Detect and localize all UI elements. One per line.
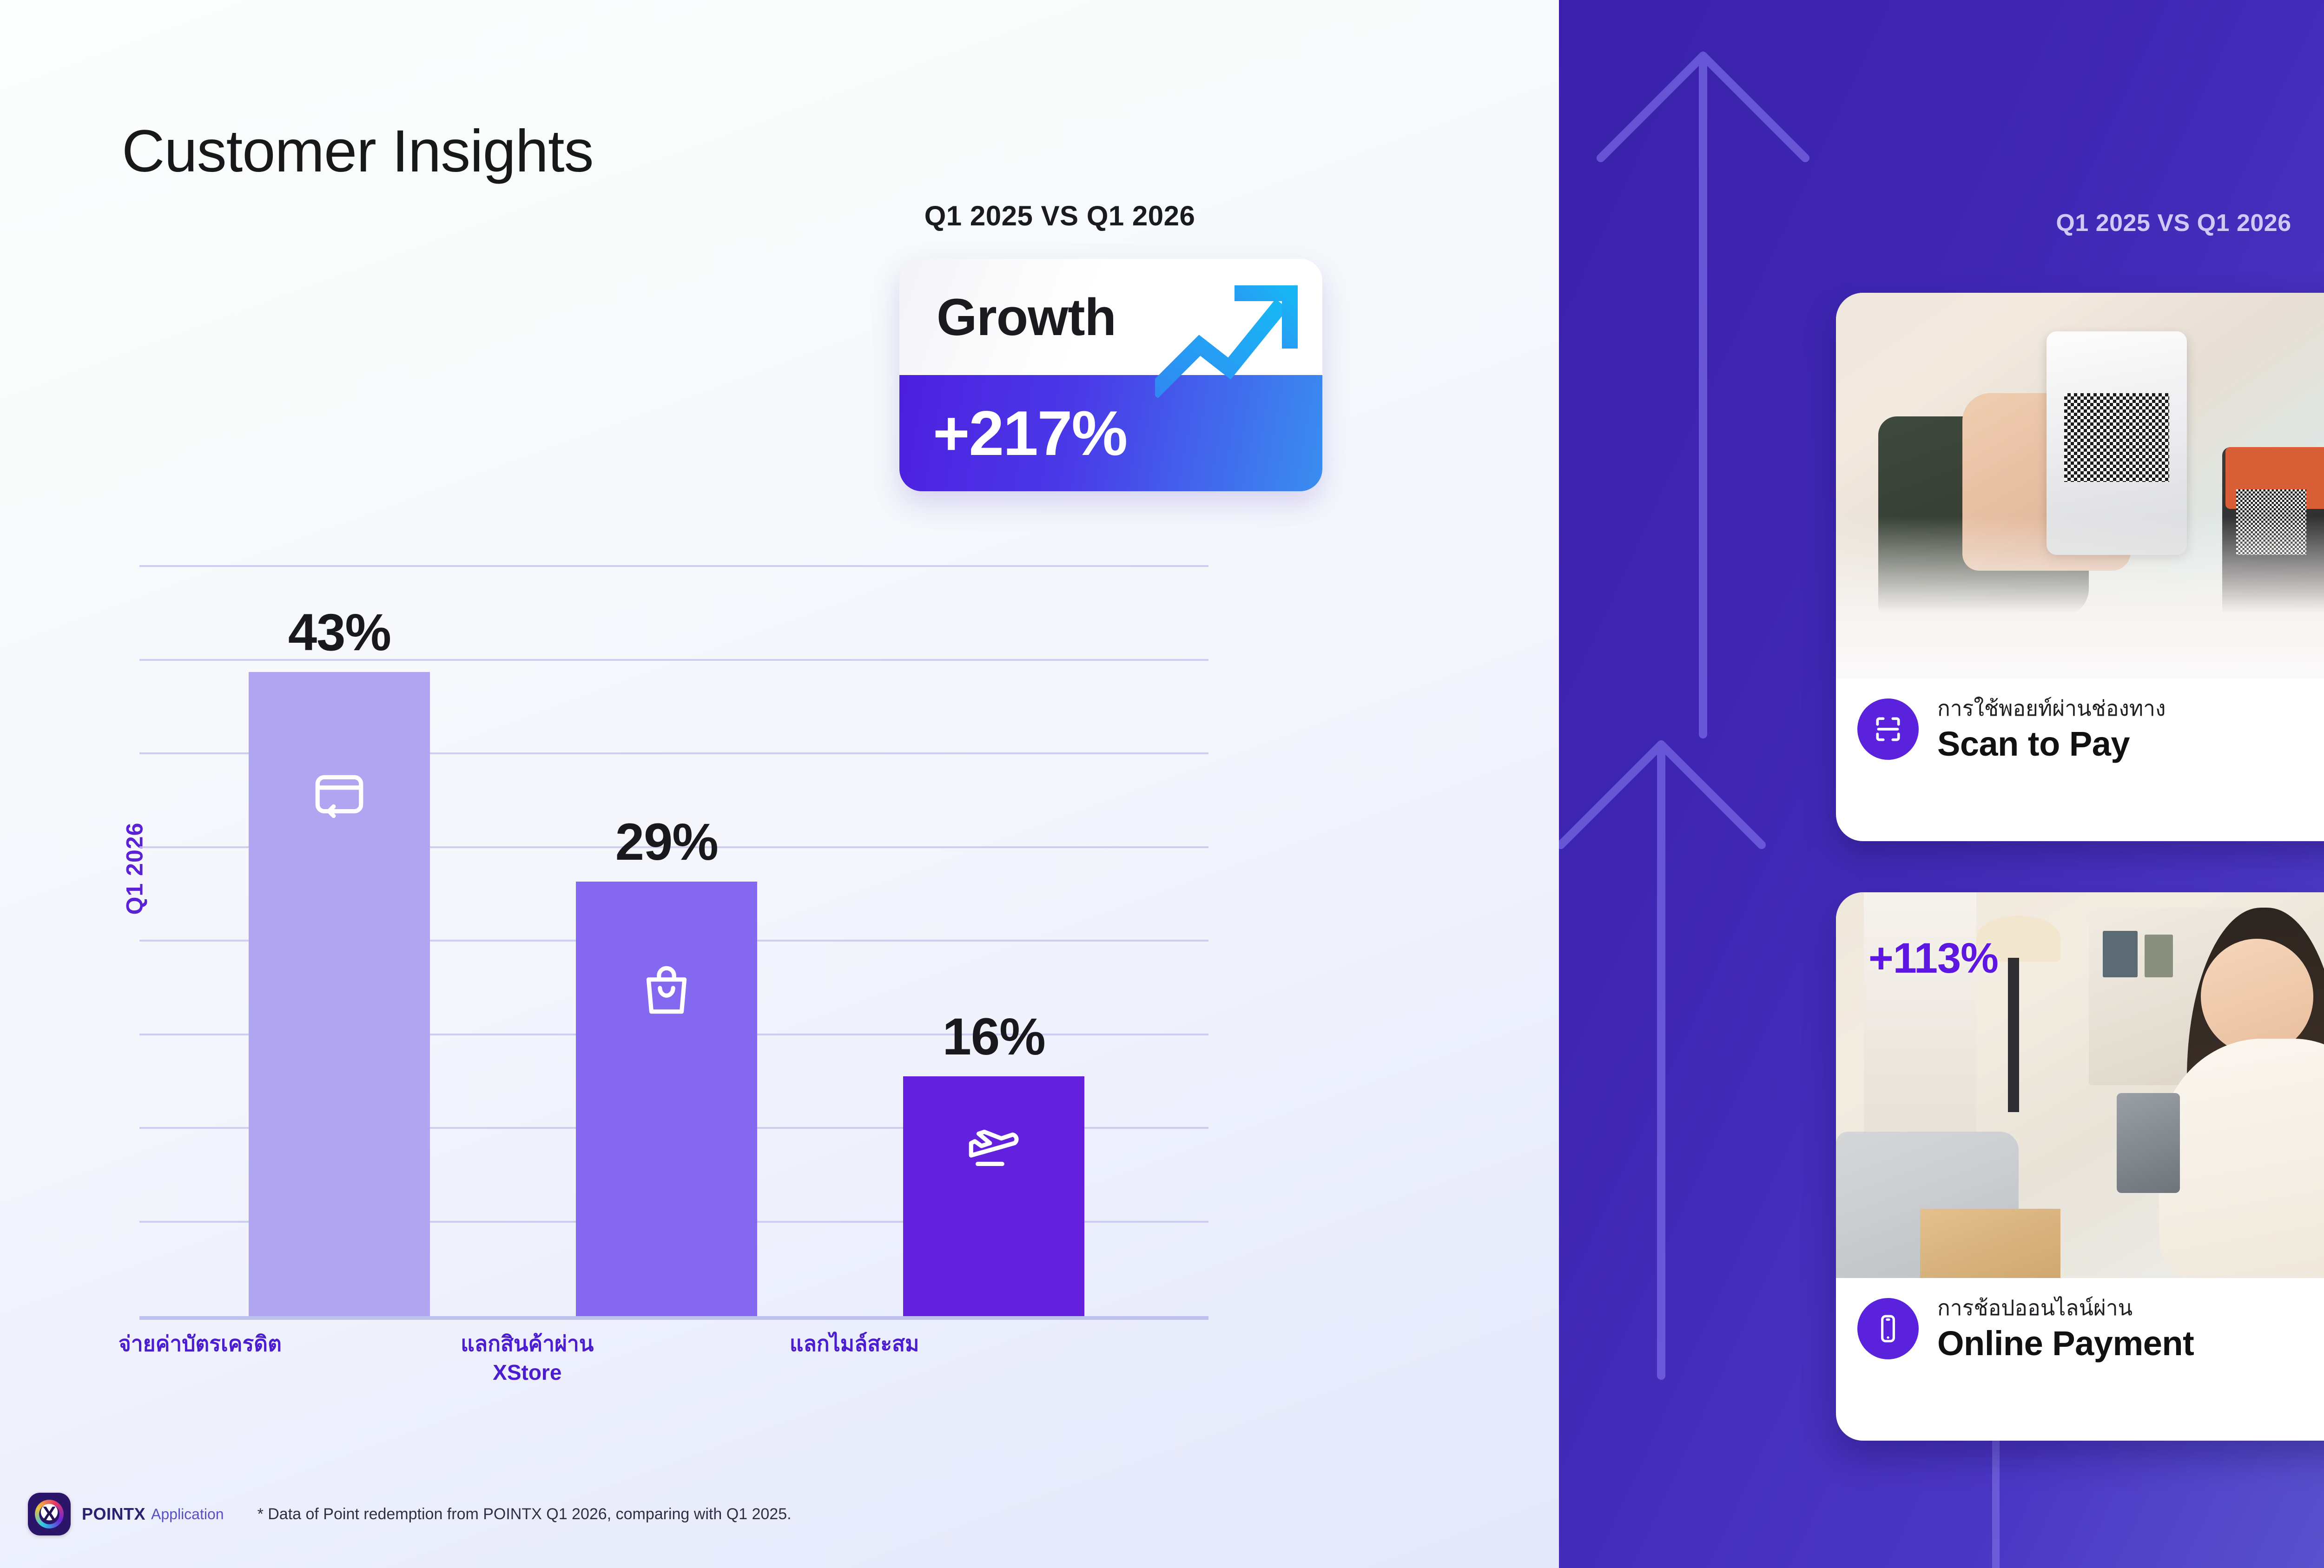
chart-bar-value: 16% [943, 1007, 1045, 1067]
card-photo-online: +113% [1836, 892, 2324, 1278]
pointx-app-icon: X [28, 1493, 71, 1535]
left-chart-panel: Customer Insights Q1 2025 VS Q1 2026 Gro… [0, 0, 1559, 1568]
chart-bar[interactable]: 16% [903, 1076, 1084, 1316]
footer-brand: POINTX [82, 1504, 145, 1524]
mobile-phone-icon [1857, 1298, 1919, 1359]
up-arrow-decor-icon [1573, 19, 1833, 744]
app-icon-letter: X [42, 1504, 56, 1524]
growth-card: Growth +217% [899, 259, 1322, 491]
chart-category-label: จ่ายค่าบัตรเครดิต [109, 1329, 290, 1358]
growth-cluster: Q1 2025 VS Q1 2026 Growth +217% [899, 200, 1336, 491]
airplane-icon [964, 1120, 1024, 1180]
chart-category-label: แลกไมล์สะสม [764, 1329, 945, 1358]
infographic-stage: Customer Insights Q1 2025 VS Q1 2026 Gro… [0, 0, 2324, 1568]
chart-category-label: แลกสินค้าผ่านXStore [436, 1329, 618, 1387]
chart-bars: 43%29%16% [139, 567, 1208, 1316]
card-photo-scan: +123% [1836, 293, 2324, 679]
growth-value: +217% [933, 397, 1127, 469]
growth-label: Growth [937, 287, 1116, 347]
chart-baseline [139, 1316, 1208, 1320]
card-title: Scan to Pay [1937, 724, 2166, 764]
credit-card-refund-icon [309, 765, 370, 825]
highlight-card-scan-to-pay[interactable]: +123% การใช้พอยท์ผ่านช่องทาง Scan to Pay [1836, 293, 2324, 841]
comparison-label: Q1 2025 VS Q1 2026 [899, 200, 1220, 232]
footer-disclaimer: * Data of Point redemption from POINTX Q… [257, 1505, 792, 1523]
chart-bar-value: 29% [615, 812, 718, 872]
card-footer-online: การช้อปออนไลน์ผ่าน Online Payment [1836, 1278, 2324, 1384]
trending-up-arrow-icon [1155, 277, 1308, 398]
up-arrow-decor-icon [1559, 711, 1782, 1385]
card-subtitle: การช้อปออนไลน์ผ่าน [1937, 1295, 2194, 1322]
right-comparison-label: Q1 2025 VS Q1 2026 [1559, 209, 2324, 237]
card-title: Online Payment [1937, 1324, 2194, 1363]
chart-bar-value: 43% [288, 602, 391, 662]
chart-bar[interactable]: 43% [249, 672, 430, 1316]
card-percent-badge: +113% [1868, 934, 1998, 983]
footer: X POINTX Application * Data of Point red… [28, 1493, 792, 1535]
chart-bar[interactable]: 29% [576, 882, 757, 1316]
card-subtitle: การใช้พอยท์ผ่านช่องทาง [1937, 695, 2166, 722]
bar-chart: Q1 2026 43%29%16% [139, 548, 1348, 1320]
right-highlights-panel: POINT X Q1 2025 VS Q1 2026 +123% [1559, 0, 2324, 1568]
page-title: Customer Insights [122, 117, 594, 185]
shopping-bag-icon [636, 960, 697, 1020]
scan-qr-icon [1857, 698, 1919, 760]
highlight-card-online-payment[interactable]: +113% การช้อปออนไลน์ผ่าน Online Payment [1836, 892, 2324, 1441]
footer-app-word: Application [151, 1506, 224, 1523]
card-footer-scan: การใช้พอยท์ผ่านช่องทาง Scan to Pay [1836, 679, 2324, 784]
